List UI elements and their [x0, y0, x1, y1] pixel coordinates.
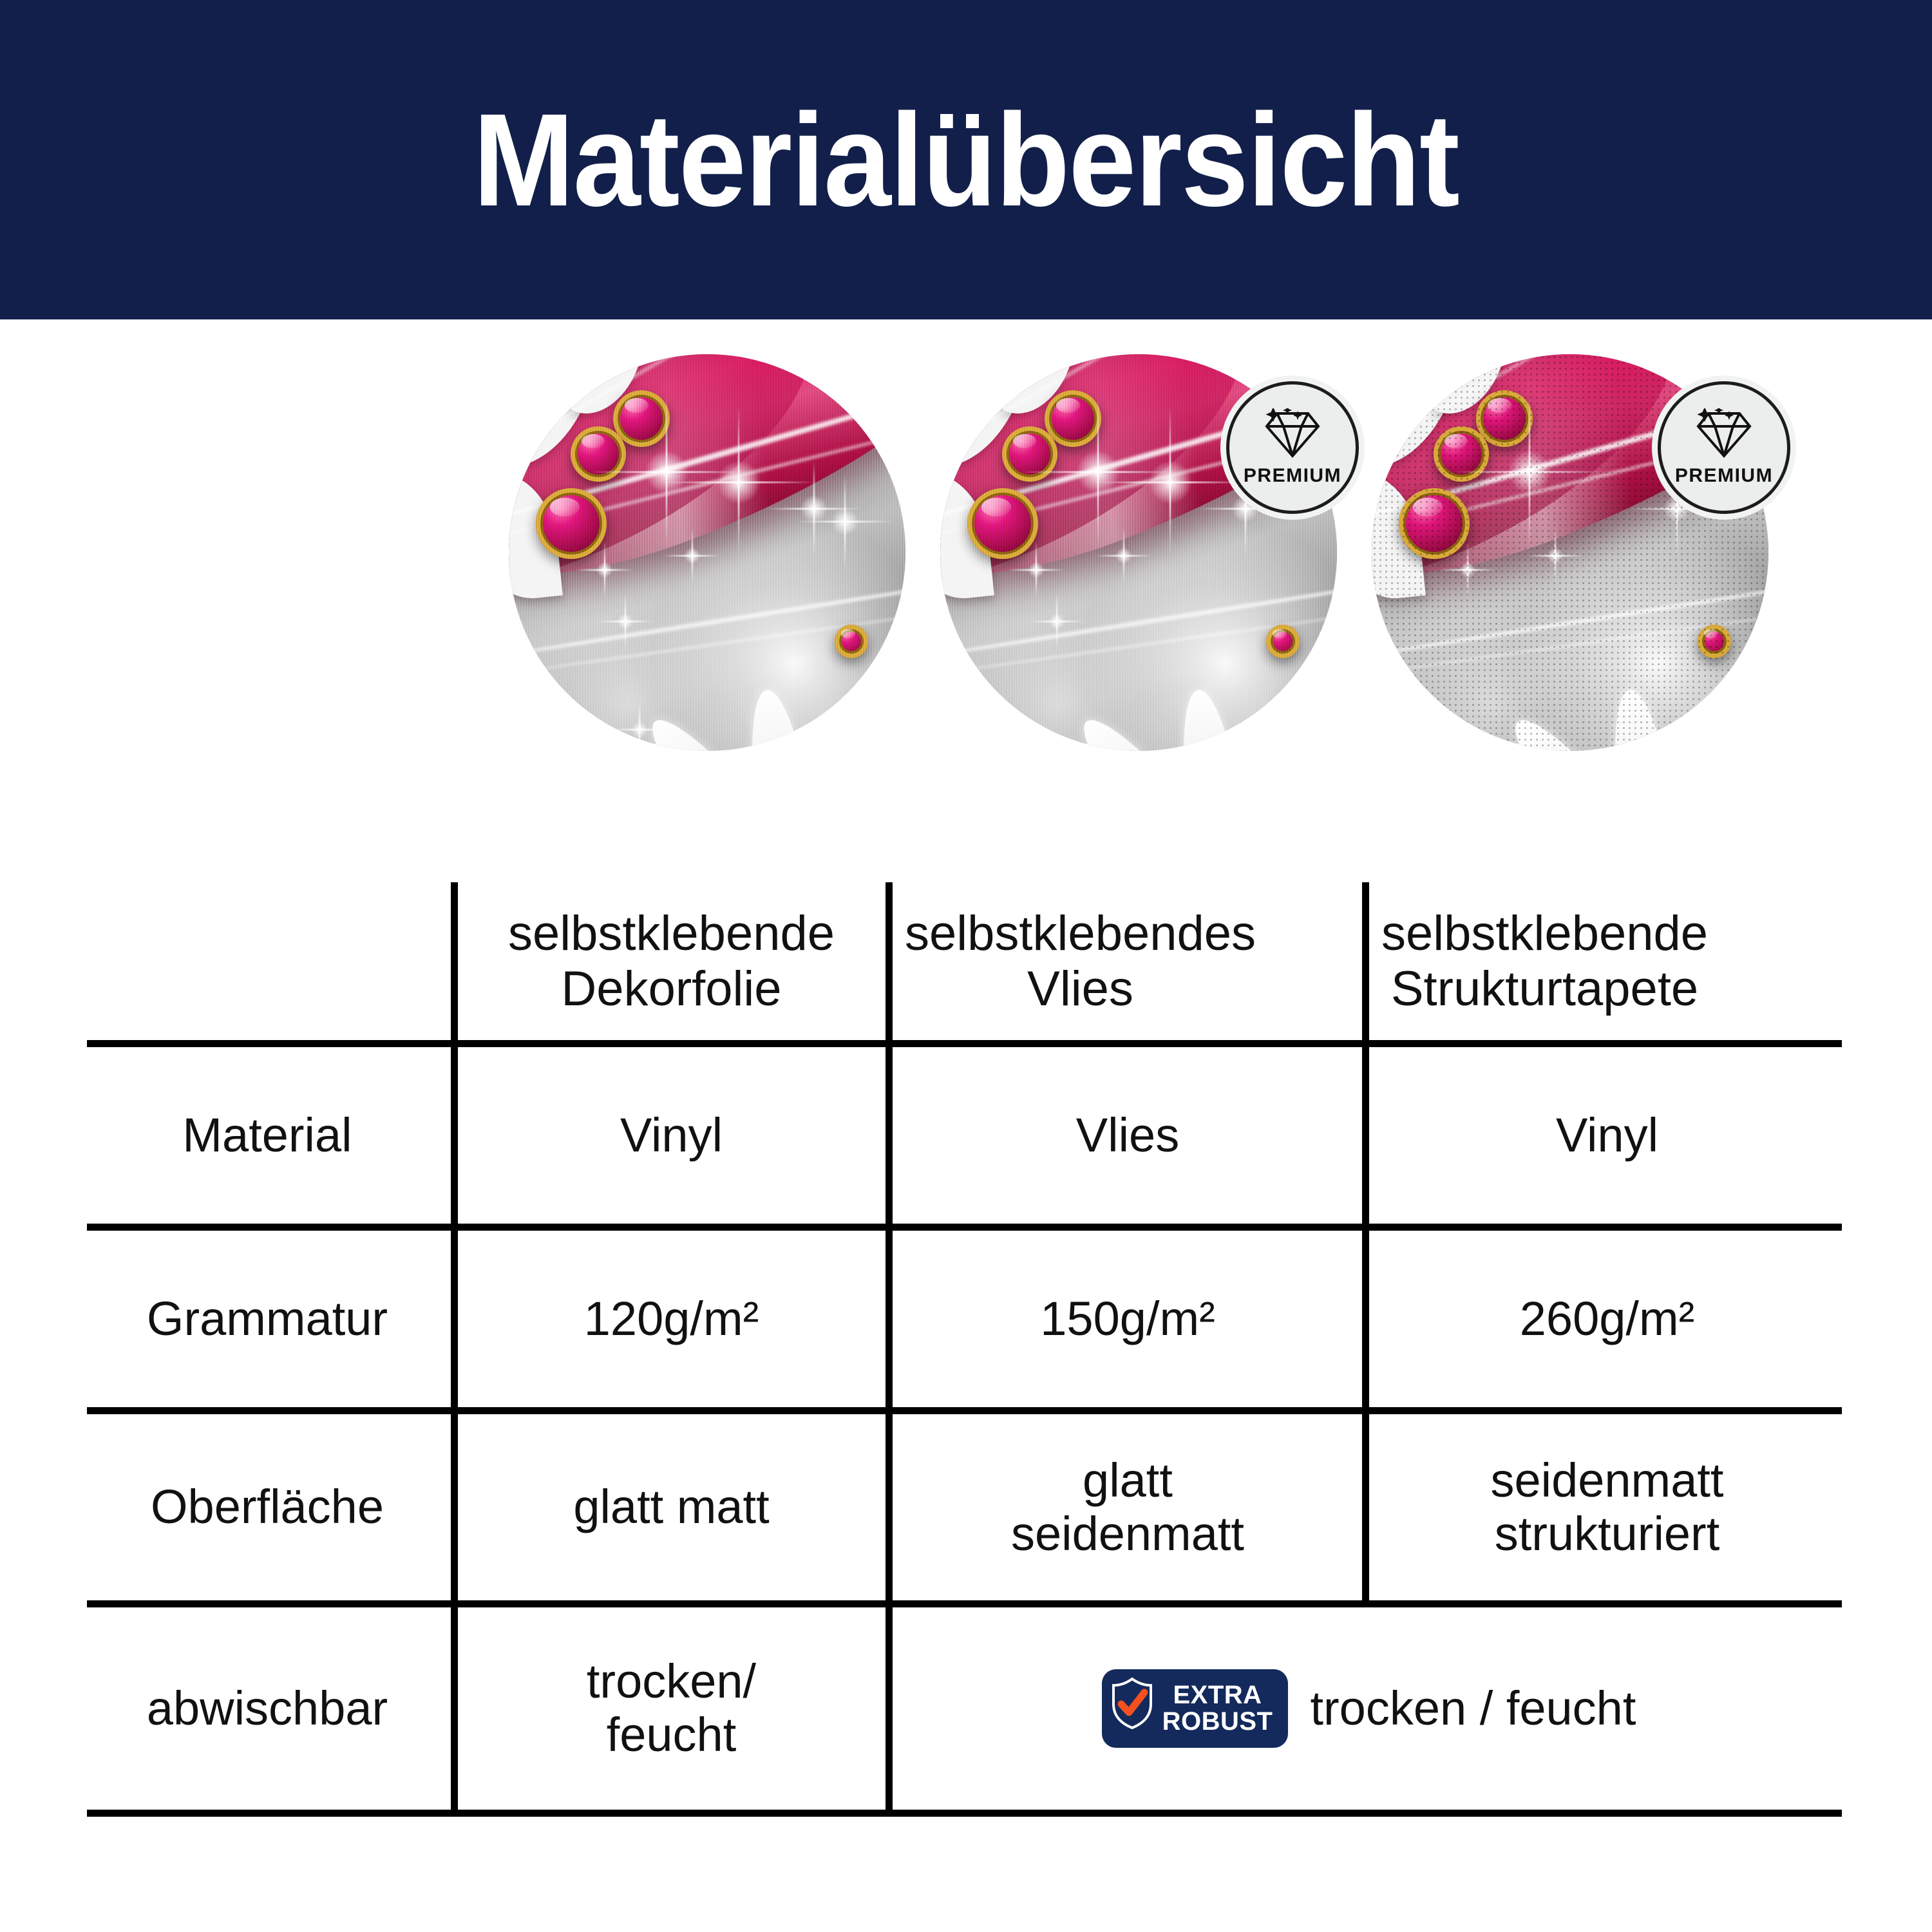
table-cell-grammatur-strukturtapete: 260g/m²: [1372, 1231, 1842, 1407]
premium-badge-vlies: PREMIUM: [1226, 381, 1359, 514]
table-row-label-grammatur: Grammatur: [87, 1231, 448, 1407]
extra-robust-line1: EXTRA: [1162, 1682, 1273, 1709]
premium-badge-label: PREMIUM: [1244, 465, 1341, 487]
material-comparison-table: selbstklebende Dekorfolie selbstklebende…: [87, 882, 1842, 1835]
product-preview-dekorfolie[interactable]: [509, 354, 905, 751]
table-cell-oberflaeche-vlies: glatt seidenmatt: [896, 1414, 1359, 1600]
product-preview-strukturtapete[interactable]: PREMIUM: [1372, 354, 1768, 751]
diamond-icon: [1263, 408, 1322, 460]
table-cell-material-vlies: Vlies: [896, 1047, 1359, 1224]
extra-robust-badge: EXTRA ROBUST: [1102, 1669, 1289, 1748]
diamond-icon: [1694, 408, 1754, 460]
table-rule-bottom: [87, 1810, 1842, 1817]
table-cell-grammatur-dekorfolie: 120g/m²: [460, 1231, 882, 1407]
table-rule-row3: [87, 1600, 1842, 1607]
table-rule-row2: [87, 1407, 1842, 1414]
extra-robust-line2: ROBUST: [1162, 1709, 1273, 1735]
table-header-dekorfolie: selbstklebende Dekorfolie: [460, 882, 882, 1040]
product-preview-strip: PREMIUM: [0, 319, 1932, 796]
table-cell-oberflaeche-dekorfolie: glatt matt: [460, 1414, 882, 1600]
shield-check-icon: [1111, 1677, 1153, 1741]
premium-badge-strukturtapete: PREMIUM: [1658, 381, 1790, 514]
page-title: Materialübersicht: [473, 94, 1459, 226]
table-row-label-abwischbar: abwischbar: [87, 1607, 448, 1810]
product-image-dekorfolie: [509, 354, 905, 751]
table-divider-2: [885, 882, 893, 1813]
table-rule-header: [87, 1040, 1842, 1047]
table-cell-material-strukturtapete: Vinyl: [1372, 1047, 1842, 1224]
table-row-label-oberflaeche: Oberfläche: [87, 1414, 448, 1600]
table-cell-abwischbar-merged: EXTRA ROBUST trocken / feucht: [896, 1607, 1842, 1810]
table-cell-oberflaeche-strukturtapete: seidenmatt strukturiert: [1372, 1414, 1842, 1600]
table-divider-1: [451, 882, 458, 1813]
table-cell-abwischbar-dekorfolie: trocken/ feucht: [460, 1607, 882, 1810]
product-preview-vlies[interactable]: PREMIUM: [940, 354, 1337, 751]
table-cell-abwischbar-merged-text: trocken / feucht: [1310, 1682, 1636, 1736]
table-header-vlies: selbstklebendes Vlies: [896, 882, 1359, 1040]
header-banner: Materialübersicht: [0, 0, 1932, 319]
table-rule-row1: [87, 1224, 1842, 1231]
premium-badge-label: PREMIUM: [1675, 465, 1773, 487]
table-cell-grammatur-vlies: 150g/m²: [896, 1231, 1359, 1407]
table-header-strukturtapete: selbstklebende Strukturtapete: [1372, 882, 1842, 1040]
table-divider-3: [1362, 882, 1369, 1604]
table-cell-material-dekorfolie: Vinyl: [460, 1047, 882, 1224]
table-row-label-material: Material: [87, 1047, 448, 1224]
